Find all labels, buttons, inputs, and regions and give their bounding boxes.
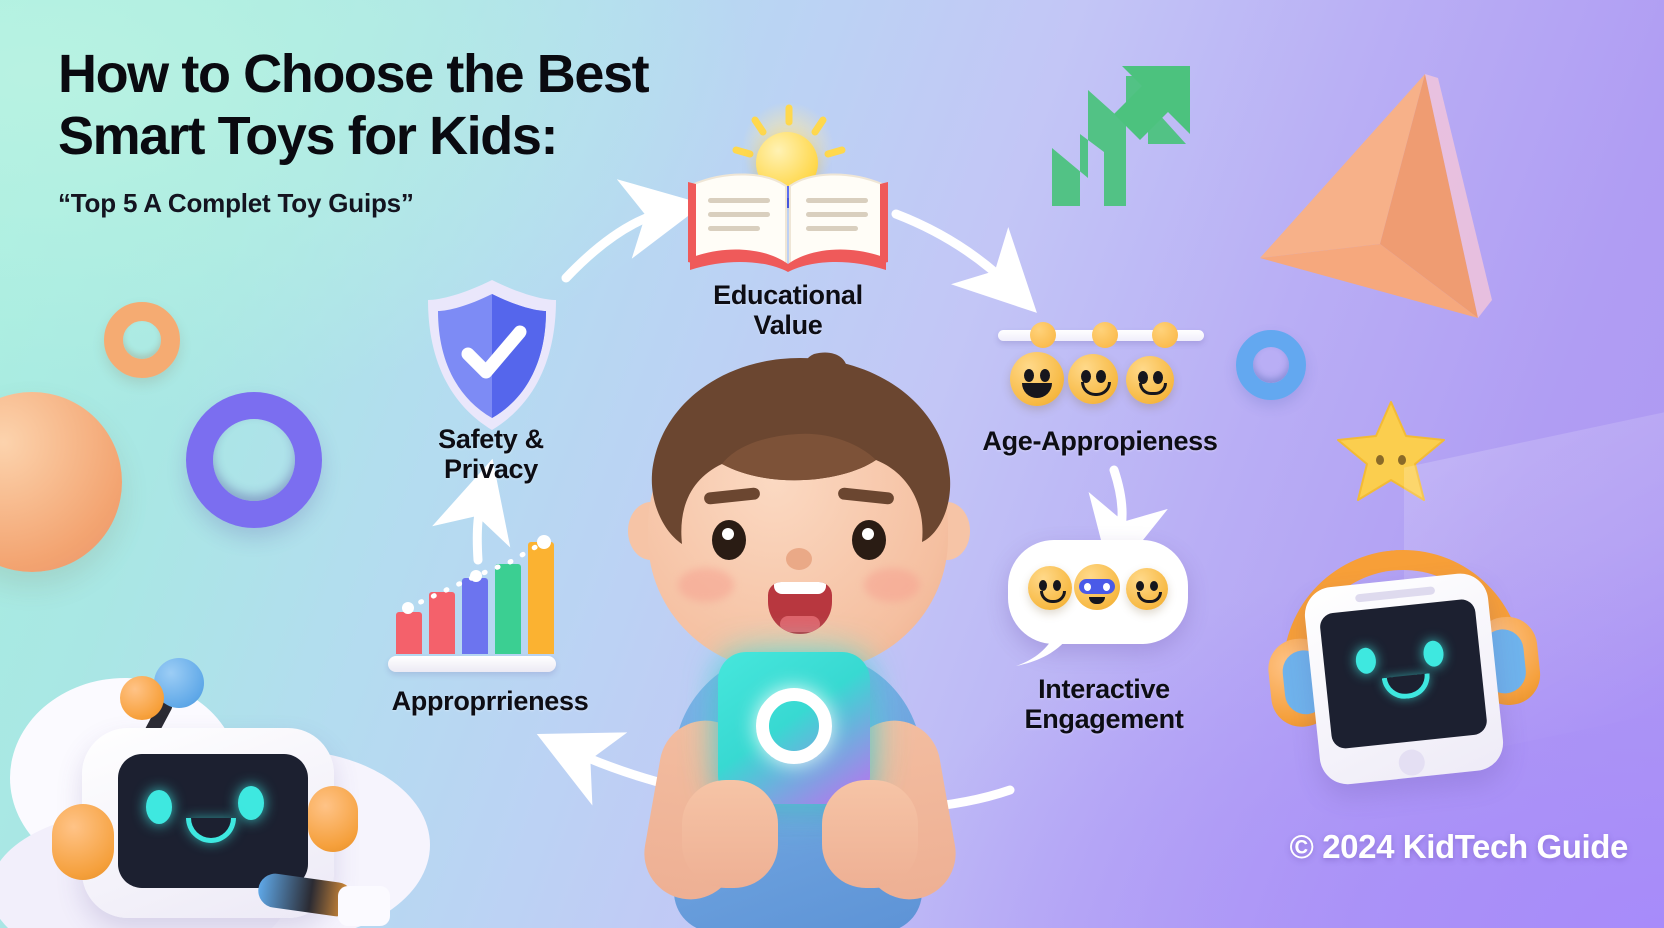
blue-torus-small bbox=[1236, 330, 1306, 400]
grinning-face-icon bbox=[1010, 352, 1064, 406]
light-panel-decor bbox=[1404, 412, 1664, 767]
age-slider-track[interactable] bbox=[998, 330, 1204, 341]
infographic-canvas: How to Choose the Best Smart Toys for Ki… bbox=[0, 0, 1664, 928]
node-label-interactive-engagement: Interactive Engagement bbox=[996, 674, 1212, 734]
age-slider-knob-2[interactable] bbox=[1092, 322, 1118, 348]
shield-check-icon bbox=[424, 276, 560, 434]
peach-circle-blob bbox=[0, 392, 122, 572]
age-appropieness-icon-group bbox=[996, 310, 1208, 406]
smiling-face-icon bbox=[1068, 354, 1118, 404]
copyright-watermark: © 2024 KidTech Guide bbox=[1290, 828, 1628, 866]
antenna-ball-orange bbox=[120, 676, 164, 720]
slight-smile-face-icon bbox=[1126, 356, 1174, 404]
tablet-screen[interactable] bbox=[1319, 598, 1488, 750]
glowing-cube-icon bbox=[718, 652, 870, 804]
page-title: How to Choose the Best Smart Toys for Ki… bbox=[58, 44, 778, 167]
open-book-icon bbox=[688, 166, 888, 274]
approprrieness-icon-group bbox=[388, 540, 556, 672]
bubble-face-blue-center bbox=[1074, 564, 1120, 610]
peach-pyramid-icon bbox=[1230, 68, 1500, 324]
node-label-approprrieness: Approprrieness bbox=[350, 686, 630, 716]
node-label-age-appropieness: Age-Appropieness bbox=[940, 426, 1260, 456]
interactive-engagement-icon-group bbox=[1008, 540, 1198, 670]
speech-bubble-icon bbox=[1008, 540, 1188, 644]
yellow-star-icon bbox=[1336, 398, 1446, 504]
node-label-safety-privacy: Safety & Privacy bbox=[378, 424, 604, 484]
age-slider-knob-3[interactable] bbox=[1152, 322, 1178, 348]
robot-face-screen bbox=[118, 754, 308, 888]
tablet-with-headphones-icon bbox=[1264, 527, 1540, 792]
orange-torus-small bbox=[104, 302, 180, 378]
age-slider-knob-1[interactable] bbox=[1030, 322, 1056, 348]
bubble-face-yellow-right bbox=[1126, 568, 1168, 610]
antenna-ball-blue bbox=[154, 658, 204, 708]
chart-baseline bbox=[388, 656, 556, 672]
node-label-educational-value: Educational Value bbox=[676, 280, 900, 340]
page-subtitle: “Top 5 A Complet Toy Guips” bbox=[58, 188, 758, 219]
bubble-face-yellow-left bbox=[1028, 566, 1072, 610]
green-arrow-up-icon bbox=[1030, 56, 1190, 206]
purple-torus-large bbox=[186, 392, 322, 528]
chart-trendline bbox=[388, 534, 568, 644]
